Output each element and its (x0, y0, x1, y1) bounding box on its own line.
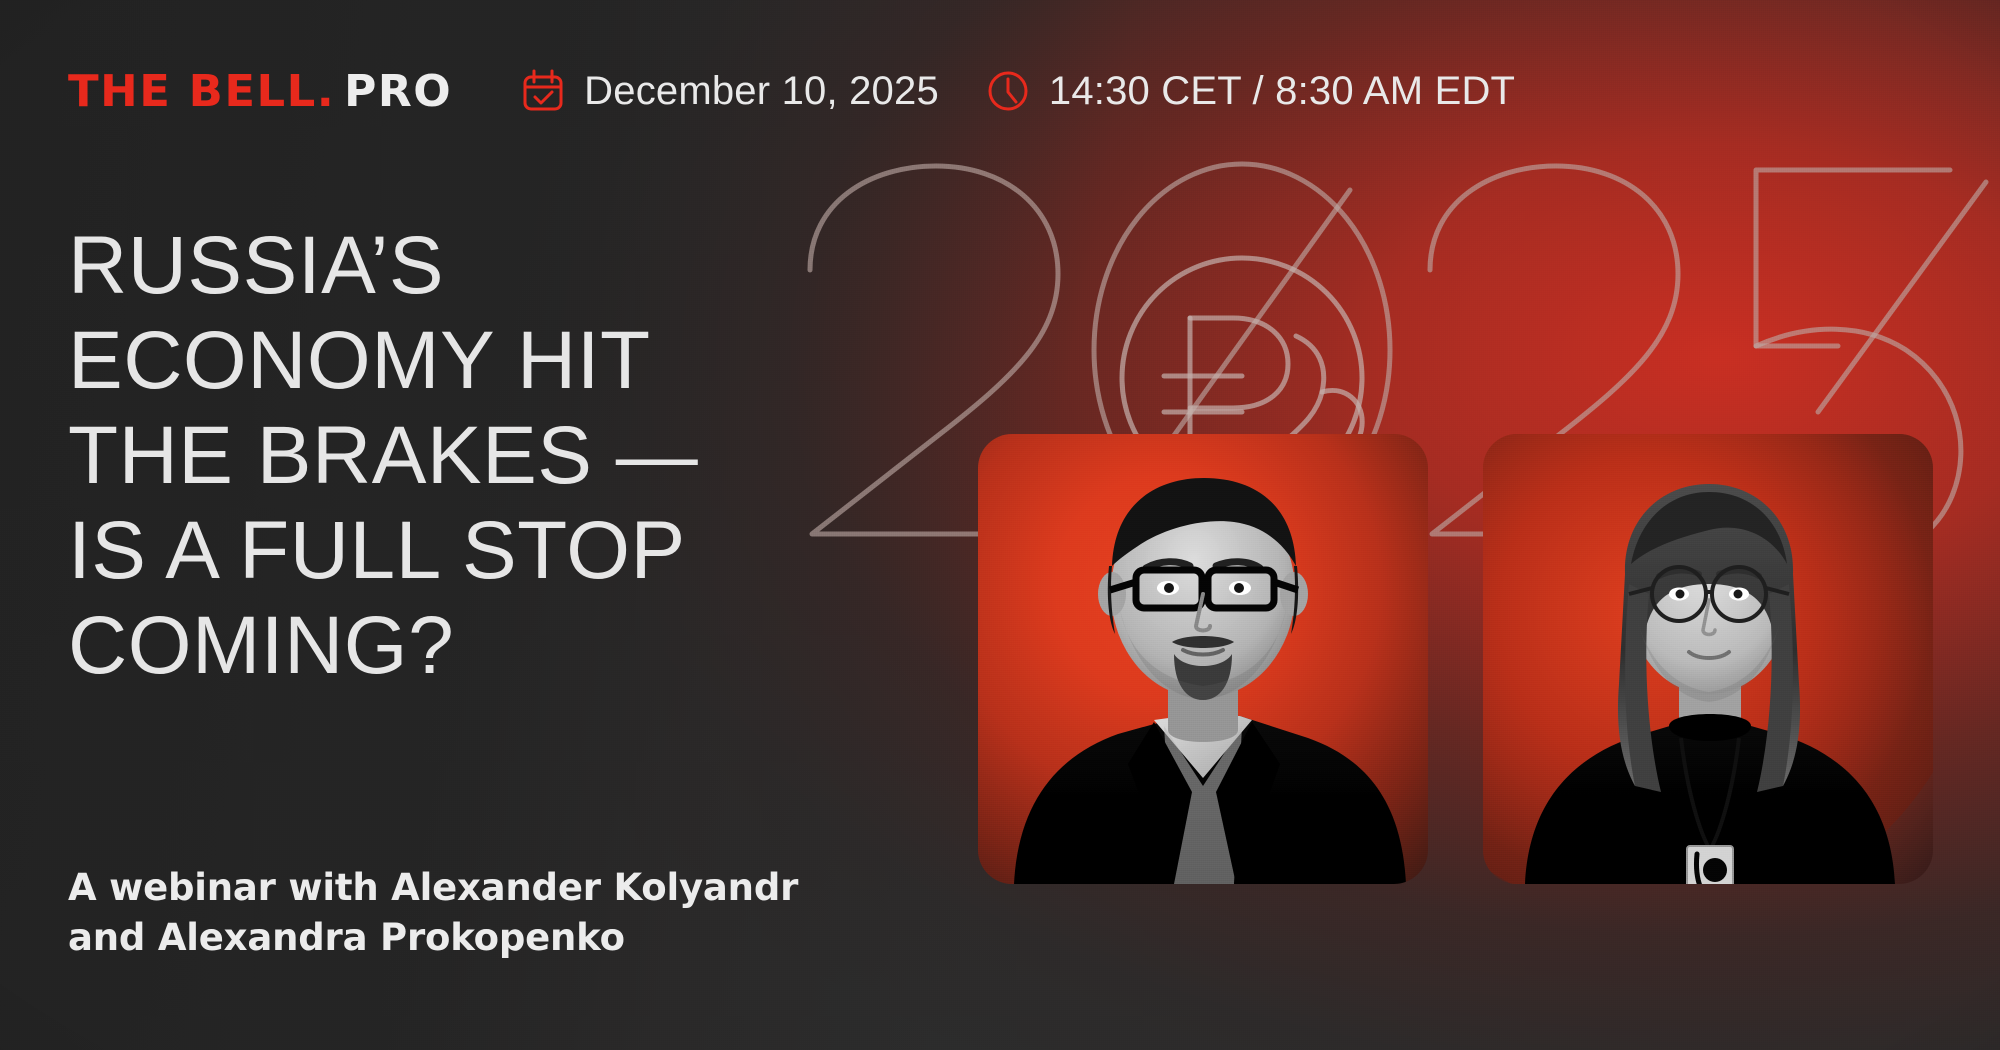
event-date-text: December 10, 2025 (584, 69, 939, 114)
speaker-photo-cards (978, 434, 1933, 884)
speaker-portrait-alexander-kolyandr (978, 434, 1428, 884)
headline-line-2: ECONOMY HIT (68, 313, 908, 408)
speaker-card-alexander-kolyandr (978, 434, 1428, 884)
event-time-text: 14:30 CET / 8:30 AM EDT (1049, 69, 1515, 114)
header-bar: THE BELL. PRO December 10, 2025 (68, 58, 1561, 124)
headline-line-5: COMING? (68, 598, 908, 693)
logo-text-pro: PRO (344, 66, 452, 117)
event-date: December 10, 2025 (520, 68, 939, 114)
calendar-check-icon (520, 68, 566, 114)
speaker-subtitle: A webinar with Alexander Kolyandr and Al… (68, 863, 888, 963)
headline-line-1: RUSSIA’S (68, 218, 908, 313)
speaker-portrait-alexandra-prokopenko (1483, 434, 1933, 884)
brand-logo: THE BELL. PRO (68, 66, 452, 117)
subtitle-line-1: A webinar with Alexander Kolyandr (68, 863, 888, 913)
clock-icon (985, 68, 1031, 114)
subtitle-line-2: and Alexandra Prokopenko (68, 913, 888, 963)
headline-line-4: IS A FULL STOP (68, 503, 908, 598)
logo-text-bell: THE BELL. (68, 66, 335, 117)
webinar-promo-poster: THE BELL. PRO December 10, 2025 (0, 0, 2000, 1050)
speaker-card-alexandra-prokopenko (1483, 434, 1933, 884)
page-title: RUSSIA’S ECONOMY HIT THE BRAKES — IS A F… (68, 218, 908, 693)
event-time: 14:30 CET / 8:30 AM EDT (985, 68, 1515, 114)
headline-line-3: THE BRAKES — (68, 408, 908, 503)
